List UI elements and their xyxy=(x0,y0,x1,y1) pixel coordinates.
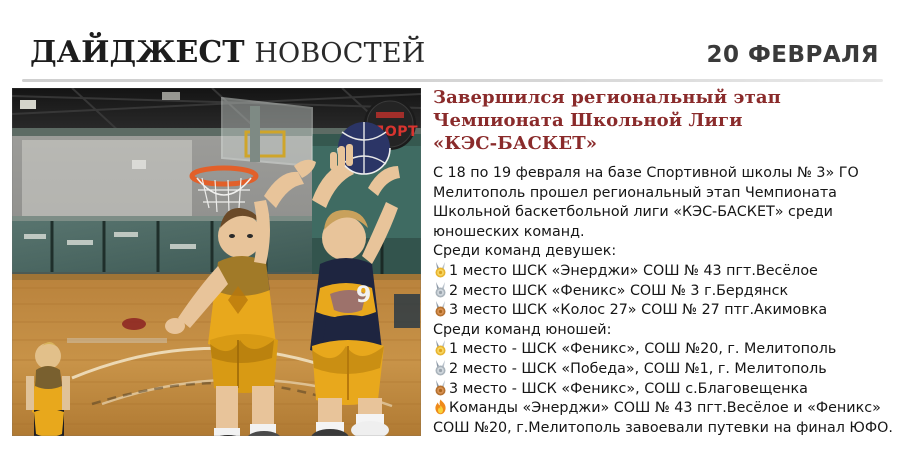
girls-result-1-text: 1 место ШСК «Энерджи» СОШ № 43 пгт.Весёл… xyxy=(449,263,818,279)
basketball-photo-illustration: СПОРТ xyxy=(12,88,421,436)
boys-result-1: 1 место - ШСК «Феникс», СОШ №20, г. Мели… xyxy=(433,340,899,360)
closing-line-1: Команды «Энерджи» СОШ № 43 пгт.Весёлое и… xyxy=(449,400,881,416)
closing-line-1-wrap: Команды «Энерджи» СОШ № 43 пгт.Весёлое и… xyxy=(433,399,899,419)
bronze-medal-icon xyxy=(433,301,448,317)
masthead: ДАЙДЖЕСТ НОВОСТЕЙ 20 ФЕВРАЛЯ xyxy=(0,0,905,82)
article-body: С 18 по 19 февраля на базе Спортивной шк… xyxy=(433,164,899,438)
closing-line-2: СОШ №20, г.Мелитополь завоевали путевки … xyxy=(433,419,899,439)
girls-section-label: Среди команд девушек: xyxy=(433,242,899,262)
silver-medal-icon xyxy=(433,360,448,376)
silver-medal-icon xyxy=(433,282,448,298)
bronze-medal-icon xyxy=(433,380,448,396)
masthead-date: 20 ФЕВРАЛЯ xyxy=(706,41,879,69)
svg-text:9: 9 xyxy=(356,283,371,308)
article-column: Завершился региональный этап Чемпионата … xyxy=(433,86,899,438)
girls-result-2: 2 место ШСК «Феникс» СОШ № 3 г.Бердянск xyxy=(433,282,899,302)
headline-line-3: «КЭС-БАСКЕТ» xyxy=(433,132,899,155)
boys-section-label: Среди команд юношей: xyxy=(433,321,899,341)
fire-icon xyxy=(433,399,448,415)
boys-result-2-text: 2 место - ШСК «Победа», СОШ №1, г. Мелит… xyxy=(449,361,827,377)
intro-line-3: Школьной баскетбольной лиги «КЭС-БАСКЕТ»… xyxy=(433,203,899,223)
page-title: ДАЙДЖЕСТ НОВОСТЕЙ xyxy=(30,36,426,71)
closing-paragraph: Команды «Энерджи» СОШ № 43 пгт.Весёлое и… xyxy=(433,399,899,438)
masthead-divider xyxy=(22,79,883,82)
boys-result-3: 3 место - ШСК «Феникс», СОШ с.Благовещен… xyxy=(433,380,899,400)
intro-line-2: Мелитополь прошел региональный этап Чемп… xyxy=(433,184,899,204)
girls-result-2-text: 2 место ШСК «Феникс» СОШ № 3 г.Бердянск xyxy=(449,283,788,299)
boys-result-1-text: 1 место - ШСК «Феникс», СОШ №20, г. Мели… xyxy=(449,341,836,357)
girls-result-3: 3 место ШСК «Колос 27» СОШ № 27 птг.Аким… xyxy=(433,301,899,321)
girls-result-3-text: 3 место ШСК «Колос 27» СОШ № 27 птг.Аким… xyxy=(449,302,827,318)
intro-paragraph: С 18 по 19 февраля на базе Спортивной шк… xyxy=(433,164,899,242)
intro-line-4: юношеских команд. xyxy=(433,223,899,243)
basketball-photo: СПОРТ xyxy=(12,88,421,436)
article-headline: Завершился региональный этап Чемпионата … xyxy=(433,86,899,155)
boys-result-3-text: 3 место - ШСК «Феникс», СОШ с.Благовещен… xyxy=(449,381,808,397)
intro-line-1: С 18 по 19 февраля на базе Спортивной шк… xyxy=(433,164,899,184)
gold-medal-icon xyxy=(433,262,448,278)
masthead-title-bold: ДАЙДЖЕСТ xyxy=(30,35,245,70)
masthead-title-light: НОВОСТЕЙ xyxy=(254,38,425,69)
girls-result-1: 1 место ШСК «Энерджи» СОШ № 43 пгт.Весёл… xyxy=(433,262,899,282)
gold-medal-icon xyxy=(433,340,448,356)
headline-line-1: Завершился региональный этап xyxy=(433,86,899,109)
boys-result-2: 2 место - ШСК «Победа», СОШ №1, г. Мелит… xyxy=(433,360,899,380)
headline-line-2: Чемпионата Школьной Лиги xyxy=(433,109,899,132)
